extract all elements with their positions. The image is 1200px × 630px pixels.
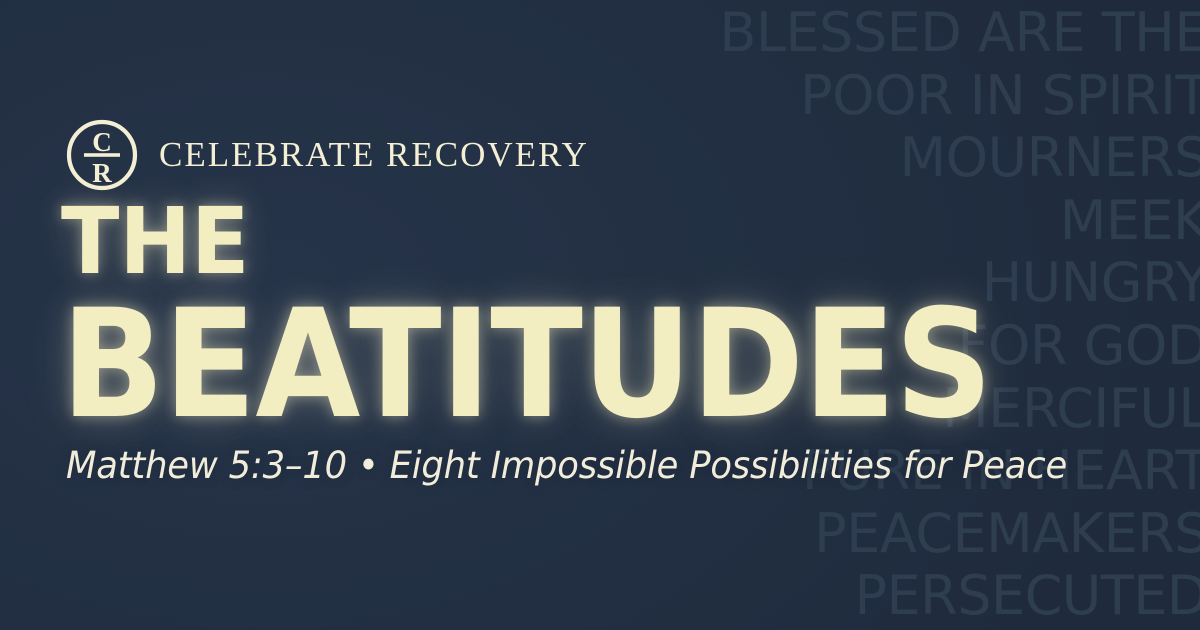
title-line-the: THE [61,196,1018,288]
subtitle: Matthew 5:3–10 • Eight Impossible Possib… [66,443,1067,488]
logo-divider-bar [84,153,120,157]
title-line-beatitudes: BEATITUDES [61,290,992,440]
beatitudes-poster: BLESSED ARE THE POOR IN SPIRIT MOURNERS … [0,0,1200,630]
logo-letter-r: R [92,158,112,188]
poster-content: C R CELEBRATE RECOVERY THE BEATITUDES Ma… [65,0,1065,630]
logo-letter-c: C [92,127,112,157]
brand-lockup: C R CELEBRATE RECOVERY [65,118,589,192]
brand-wordmark: CELEBRATE RECOVERY [159,137,589,174]
celebrate-recovery-cr-logo-icon: C R [65,118,139,192]
page-title: THE BEATITUDES [61,196,1090,440]
